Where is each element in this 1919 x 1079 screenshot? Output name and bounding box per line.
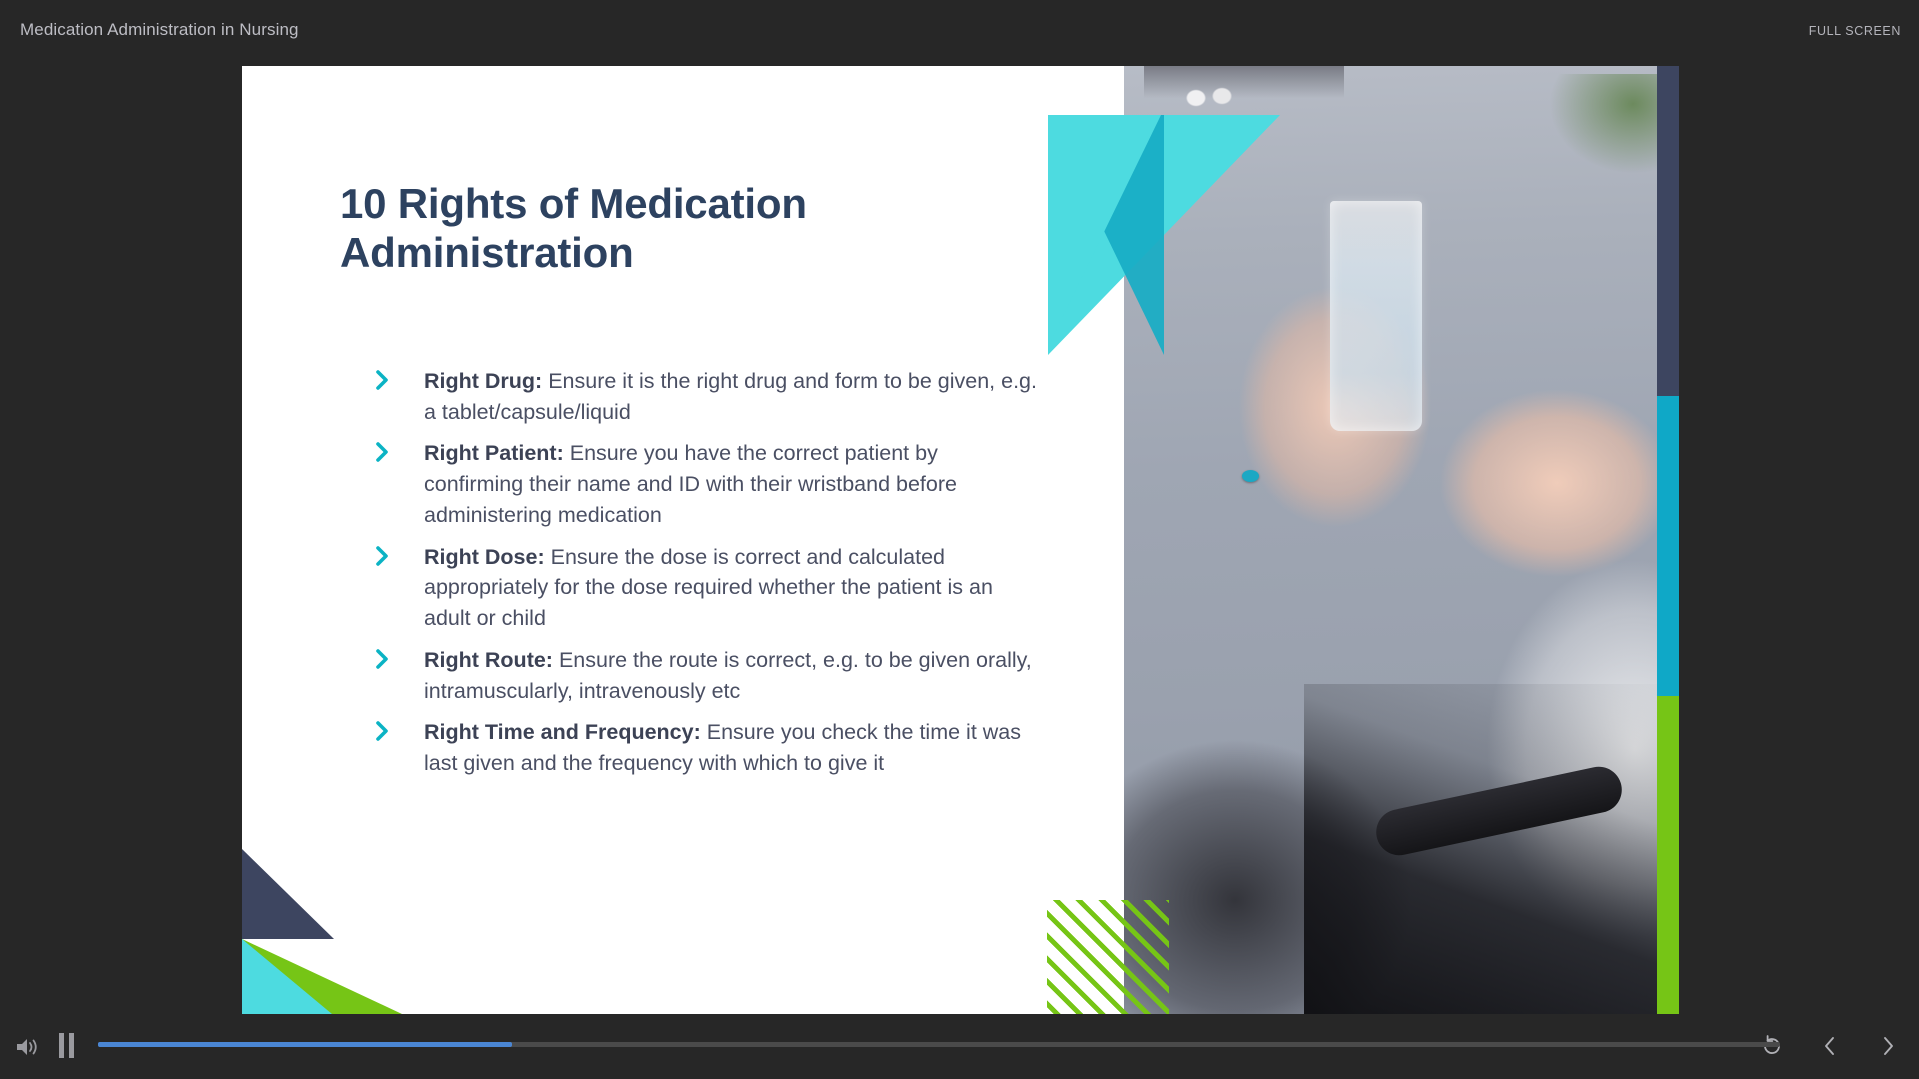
chevron-right-icon — [375, 369, 391, 391]
volume-icon[interactable] — [14, 1034, 40, 1060]
pill — [1242, 470, 1259, 482]
side-color-bars — [1657, 66, 1679, 1014]
stethoscope-decor — [1144, 66, 1344, 112]
progress-bar-fill — [98, 1042, 512, 1047]
water-glass — [1330, 201, 1422, 431]
pause-bar-left — [59, 1033, 64, 1058]
bullet-item-right-dose: Right Dose: Ensure the dose is correct a… — [340, 542, 1040, 634]
side-bar-green — [1657, 696, 1679, 1014]
top-bar: Medication Administration in Nursing FUL… — [0, 0, 1919, 64]
next-slide-button[interactable] — [1873, 1031, 1903, 1061]
bullet-item-right-route: Right Route: Ensure the route is correct… — [340, 645, 1040, 706]
chevron-right-icon — [375, 720, 391, 742]
slide-text-panel: 10 Rights of Medication Administration R… — [242, 66, 1124, 1014]
plant-decor — [1549, 74, 1669, 174]
chevron-right-icon — [375, 648, 391, 670]
side-bar-cyan — [1657, 396, 1679, 696]
previous-slide-button[interactable] — [1815, 1031, 1845, 1061]
course-title: Medication Administration in Nursing — [20, 20, 299, 40]
pause-bar-right — [69, 1033, 74, 1058]
side-bar-navy — [1657, 66, 1679, 396]
bullet-term: Right Dose: — [424, 545, 545, 569]
wheelchair-decor — [1304, 684, 1679, 1014]
bullet-item-right-time-and-frequency: Right Time and Frequency: Ensure you che… — [340, 717, 1040, 778]
slide-stage: 10 Rights of Medication Administration R… — [242, 66, 1679, 1014]
progress-bar-track[interactable] — [98, 1042, 1780, 1047]
bullet-list: Right Drug: Ensure it is the right drug … — [340, 366, 1040, 790]
bullet-term: Right Route: — [424, 648, 553, 672]
bullet-term: Right Time and Frequency: — [424, 720, 701, 744]
bullet-item-right-drug: Right Drug: Ensure it is the right drug … — [340, 366, 1040, 427]
chevron-right-icon — [375, 441, 391, 463]
player-root: Medication Administration in Nursing FUL… — [0, 0, 1919, 1079]
chevron-right-icon — [375, 545, 391, 567]
bullet-item-right-patient: Right Patient: Ensure you have the corre… — [340, 438, 1040, 530]
bullet-term: Right Drug: — [424, 369, 542, 393]
bullet-term: Right Patient: — [424, 441, 564, 465]
fullscreen-button[interactable]: FULL SCREEN — [1809, 24, 1901, 38]
slide-photo — [1124, 66, 1679, 1014]
pause-button[interactable] — [57, 1033, 79, 1059]
slide-title: 10 Rights of Medication Administration — [340, 179, 900, 277]
